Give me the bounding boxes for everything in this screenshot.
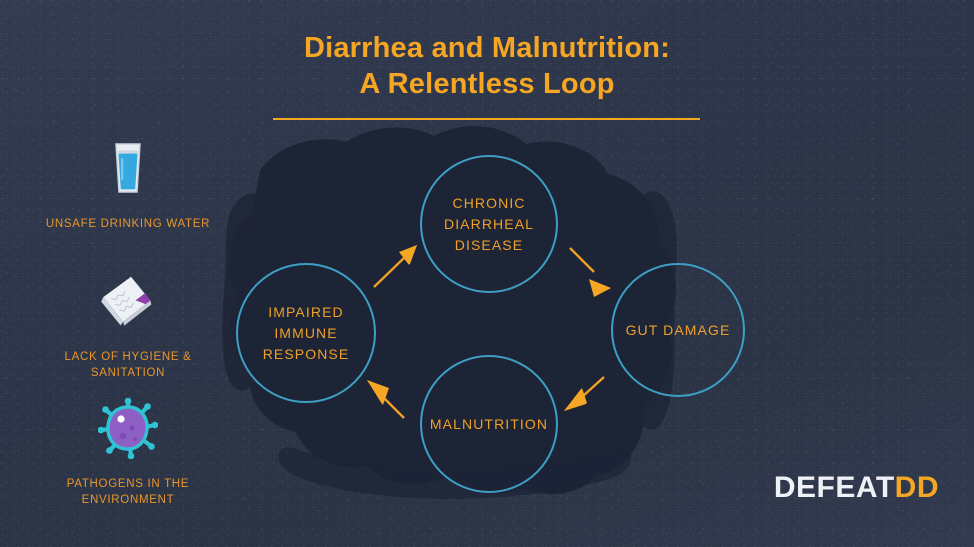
cycle-node-label: GUT DAMAGE: [618, 320, 739, 341]
arrow-immune-to-diarrhea: [374, 245, 417, 287]
cycle-node-chronic-diarrheal-disease[interactable]: CHRONIC DIARRHEAL DISEASE: [420, 155, 558, 293]
arrow-diarrhea-to-gut: [570, 248, 611, 297]
arrow-gut-to-malnutrition: [564, 377, 604, 411]
cycle-node-impaired-immune-response[interactable]: IMPAIRED IMMUNE RESPONSE: [236, 263, 376, 403]
cycle-node-label: IMPAIRED IMMUNE RESPONSE: [238, 302, 374, 365]
cycle-node-malnutrition[interactable]: MALNUTRITION: [420, 355, 558, 493]
defeatdd-logo[interactable]: DEFEATDD: [774, 471, 939, 505]
cycle-node-label: MALNUTRITION: [422, 414, 556, 435]
arrow-malnutrition-to-immune: [367, 380, 404, 418]
cycle-node-label: CHRONIC DIARRHEAL DISEASE: [422, 193, 556, 256]
logo-text-defeat: DEFEAT: [774, 471, 895, 504]
cycle-node-gut-damage[interactable]: GUT DAMAGE: [611, 263, 745, 397]
infographic-canvas: Diarrhea and Malnutrition: A Relentless …: [0, 0, 974, 547]
logo-text-dd: DD: [895, 471, 939, 504]
